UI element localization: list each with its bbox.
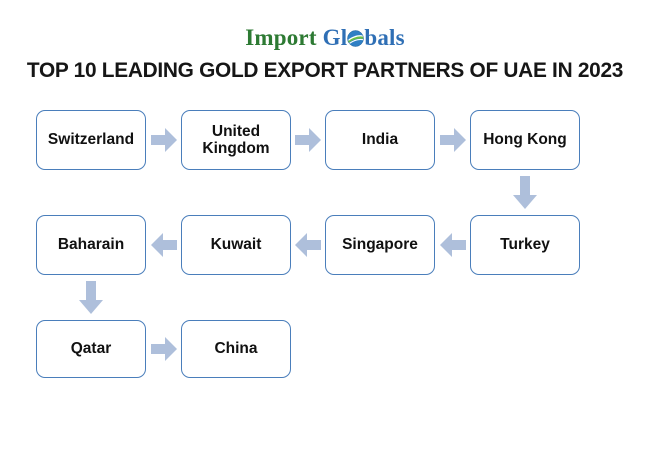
flow-node-label: India — [362, 131, 398, 148]
arrow-down-baharain-to-qatar — [79, 281, 103, 314]
flow-node-label: Qatar — [71, 340, 112, 357]
flow-node-switzerland[interactable]: Switzerland — [36, 110, 146, 170]
flow-node-qatar[interactable]: Qatar — [36, 320, 146, 378]
arrow-down-hong-kong-to-turkey — [513, 176, 537, 209]
flow-node-united-kingdom[interactable]: United Kingdom — [181, 110, 291, 170]
flow-node-label: United Kingdom — [186, 123, 286, 158]
brand-logo: Import Gl bals — [0, 26, 650, 49]
flow-node-label: Singapore — [342, 236, 418, 253]
logo-text-bals: bals — [364, 25, 404, 50]
flow-node-label: Baharain — [58, 236, 124, 253]
logo-text-import: Import — [245, 25, 316, 50]
arrow-left-turkey-to-singapore — [440, 233, 466, 257]
flow-node-label: China — [214, 340, 257, 357]
arrow-right-switzerland-to-united-kingdom — [151, 128, 177, 152]
flow-node-label: Turkey — [500, 236, 550, 253]
flow-node-kuwait[interactable]: Kuwait — [181, 215, 291, 275]
flow-node-india[interactable]: India — [325, 110, 435, 170]
infographic-canvas: Import Gl bals TOP 10 LEADING GOLD EXPOR… — [0, 0, 650, 450]
flow-node-hong-kong[interactable]: Hong Kong — [470, 110, 580, 170]
arrow-left-singapore-to-kuwait — [295, 233, 321, 257]
flow-node-baharain[interactable]: Baharain — [36, 215, 146, 275]
flow-node-singapore[interactable]: Singapore — [325, 215, 435, 275]
flow-node-turkey[interactable]: Turkey — [470, 215, 580, 275]
flow-node-label: Hong Kong — [483, 131, 567, 148]
arrow-left-kuwait-to-baharain — [151, 233, 177, 257]
flow-node-label: Switzerland — [48, 131, 134, 148]
logo-text-gl: Gl — [323, 25, 348, 50]
arrow-right-qatar-to-china — [151, 337, 177, 361]
globe-icon — [347, 30, 364, 47]
arrow-right-india-to-hong-kong — [440, 128, 466, 152]
page-title: TOP 10 LEADING GOLD EXPORT PARTNERS OF U… — [10, 58, 641, 83]
arrow-right-united-kingdom-to-india — [295, 128, 321, 152]
flow-node-label: Kuwait — [211, 236, 262, 253]
flow-node-china[interactable]: China — [181, 320, 291, 378]
